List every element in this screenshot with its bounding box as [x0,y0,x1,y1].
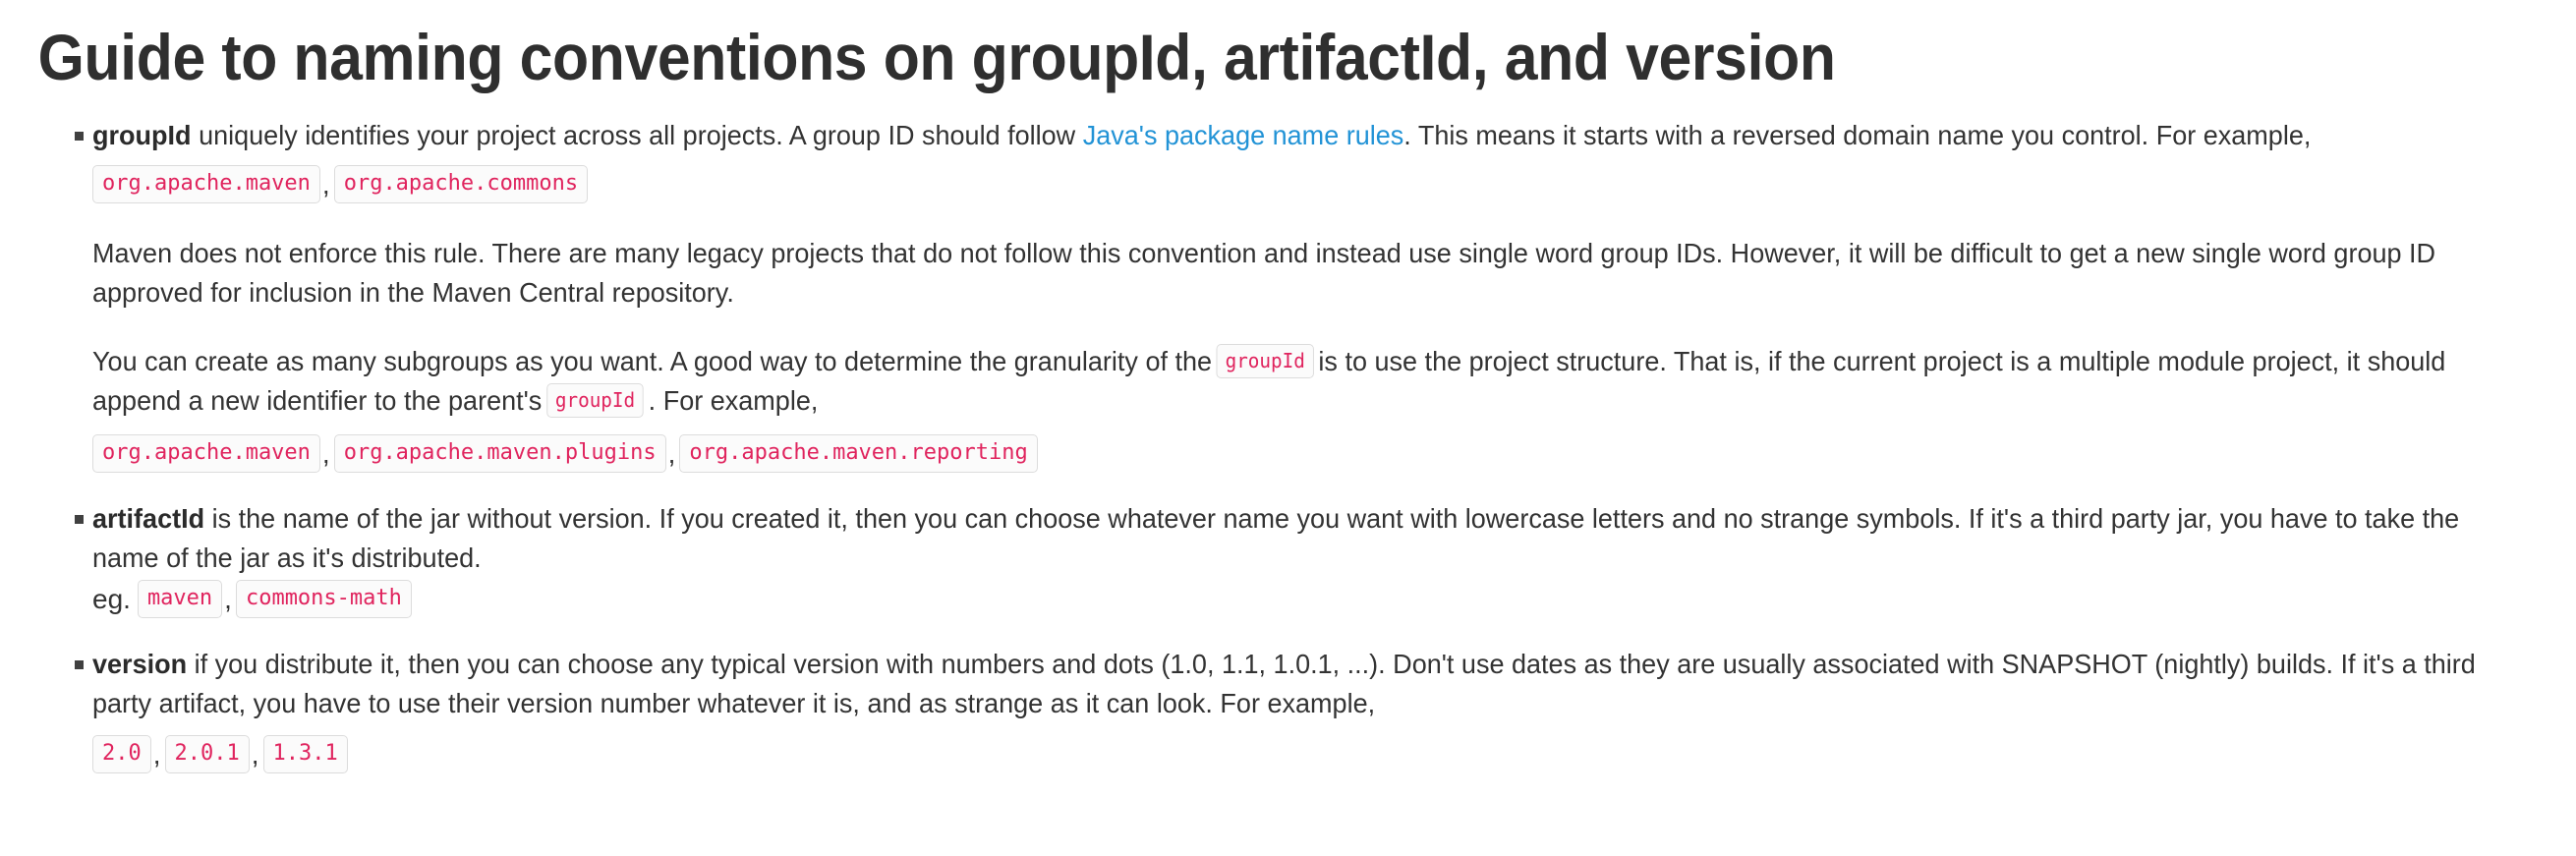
groupid-paragraph-3: You can create as many subgroups as you … [92,342,2490,421]
version-examples-row: 2.0,2.0.1,1.3.1 [92,735,2576,774]
groupid-lead-text-2: . This means it starts with a reversed d… [1403,120,2311,150]
artifactid-text: is the name of the jar without version. … [92,503,2459,573]
groupid-lead-text-1: uniquely identifies your project across … [192,120,1083,150]
groupid-p3-text-3: . For example, [649,385,819,416]
groupid-lead-paragraph: groupId uniquely identifies your project… [92,116,2490,155]
groupid-paragraph-2: Maven does not enforce this rule. There … [92,234,2490,313]
term-artifactid: artifactId [92,503,204,534]
chip-separator: , [250,739,263,770]
code-chip: 2.0 [92,735,151,773]
version-text: if you distribute it, then you can choos… [92,649,2476,718]
code-chip: commons-math [236,580,412,618]
artifactid-examples-row: eg.maven,commons-math [92,580,2576,619]
bullet-square-icon [75,660,84,669]
chip-separator: , [222,584,236,614]
eg-label: eg. [92,584,138,614]
code-chip: org.apache.maven.reporting [679,434,1037,473]
groupid-examples-row-2: org.apache.maven,org.apache.maven.plugin… [92,434,2576,474]
term-version: version [92,649,187,679]
list-item-artifactid: artifactId is the name of the jar withou… [0,499,2576,619]
chip-separator: , [320,438,334,469]
list-item-groupid: groupId uniquely identifies your project… [0,116,2576,474]
code-chip-inline: groupId [546,383,644,418]
chip-separator: , [151,739,165,770]
code-chip-inline: groupId [1217,344,1314,378]
bullet-square-icon [75,132,84,141]
java-package-name-rules-link[interactable]: Java's package name rules [1083,120,1404,150]
groupid-p3-text-1: You can create as many subgroups as you … [92,346,1212,376]
code-chip: org.apache.commons [334,165,588,203]
code-chip: maven [138,580,222,618]
term-groupid: groupId [92,120,192,150]
code-chip: org.apache.maven.plugins [334,434,666,473]
chip-separator: , [320,169,334,200]
naming-conventions-list: groupId uniquely identifies your project… [0,116,2576,774]
page-title: Guide to naming conventions on groupId, … [0,0,2370,94]
document-page: Guide to naming conventions on groupId, … [0,0,2576,774]
groupid-examples-row-1: org.apache.maven,org.apache.commons [92,165,2576,204]
bullet-square-icon [75,515,84,524]
code-chip: org.apache.maven [92,165,320,203]
code-chip: 2.0.1 [165,735,250,773]
code-chip: 1.3.1 [263,735,348,773]
artifactid-paragraph: artifactId is the name of the jar withou… [92,499,2490,578]
list-item-version: version if you distribute it, then you c… [0,645,2576,774]
chip-separator: , [666,438,680,469]
code-chip: org.apache.maven [92,434,320,473]
version-paragraph: version if you distribute it, then you c… [92,645,2490,723]
